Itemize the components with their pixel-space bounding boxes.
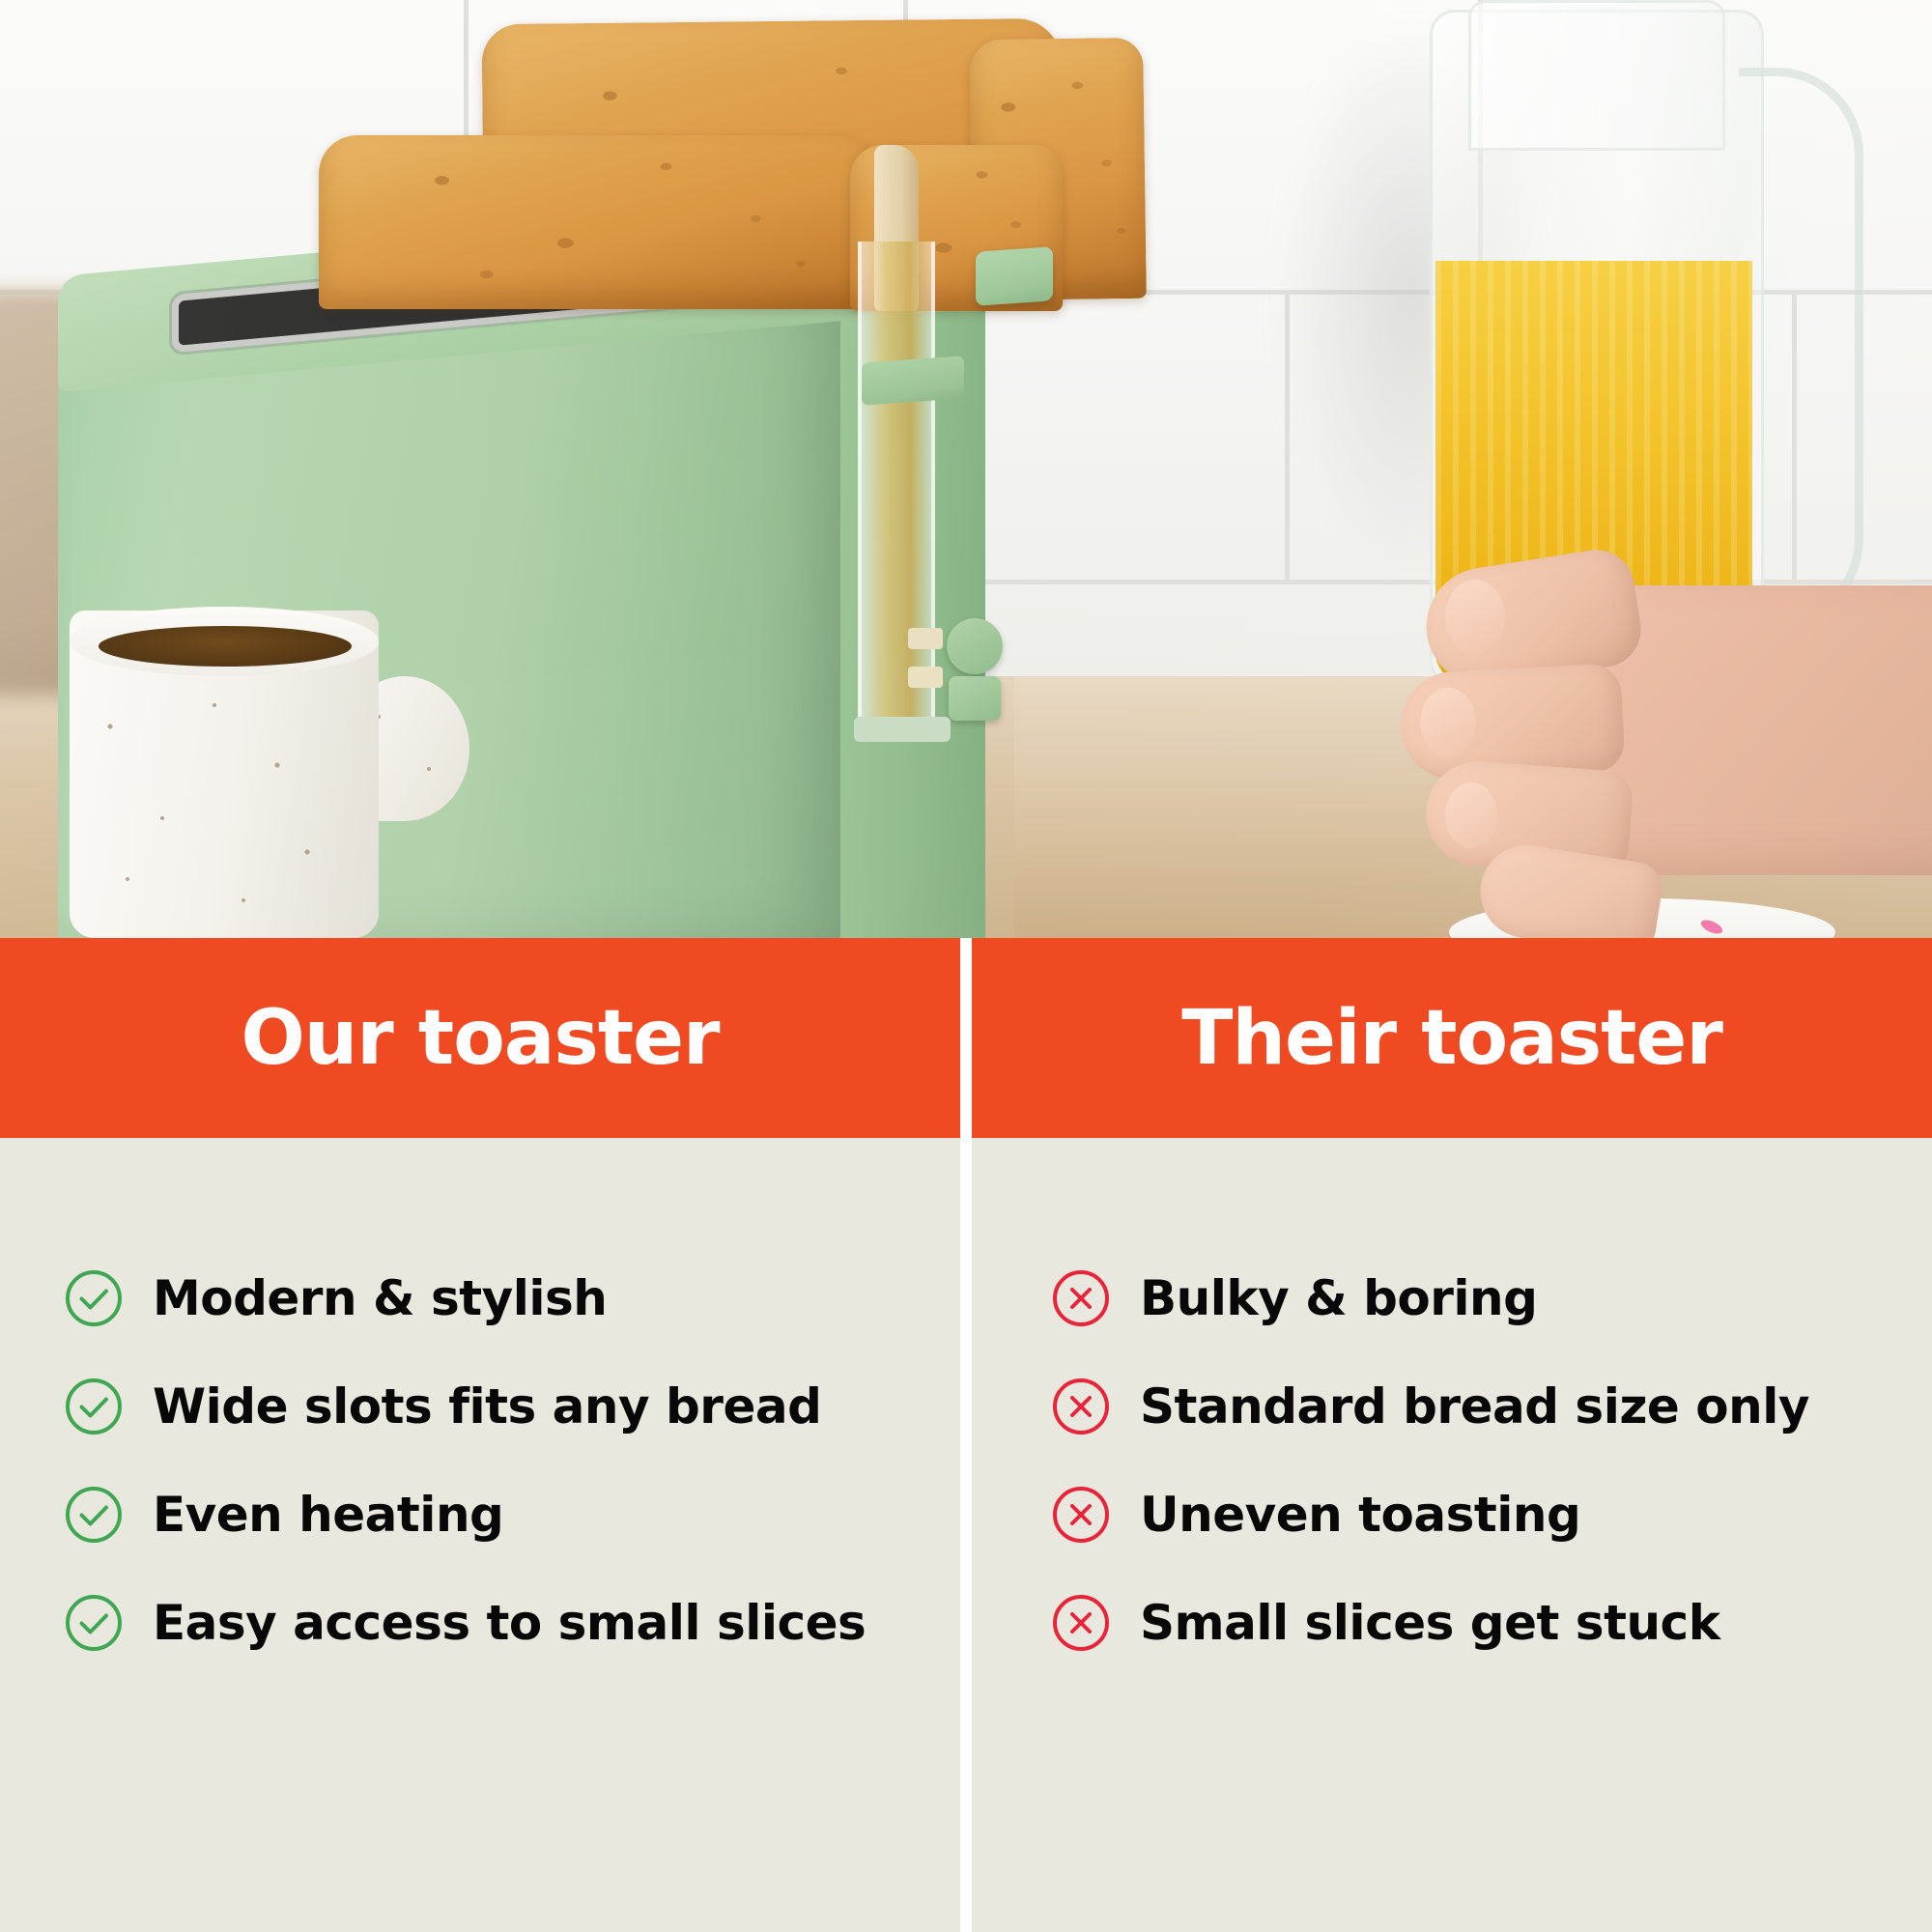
list-item: Small slices get stuck (1051, 1569, 1932, 1677)
list-item: Even heating (64, 1461, 960, 1569)
column-title-ours: Our toaster (241, 1001, 719, 1076)
list-item-label: Standard bread size only (1140, 1382, 1809, 1431)
comparison-infographic: Our toaster Their toaster Modern & styli… (0, 0, 1932, 1932)
column-title-theirs: Their toaster (1181, 1001, 1722, 1076)
header-cell-ours: Our toaster (0, 938, 960, 1138)
list-item-label: Wide slots fits any bread (153, 1382, 821, 1431)
list-item-label: Modern & stylish (153, 1274, 607, 1322)
feature-list-theirs: Bulky & boring Standard bread size only … (972, 1138, 1932, 1932)
cross-circle-icon (1051, 1485, 1111, 1545)
cross-circle-icon (1051, 1593, 1111, 1653)
header-cell-theirs: Their toaster (972, 938, 1932, 1138)
photo-soft-overlay (0, 0, 1932, 938)
list-item: Bulky & boring (1051, 1244, 1932, 1352)
cross-circle-icon (1051, 1377, 1111, 1436)
hero-photo (0, 0, 1932, 938)
list-item: Standard bread size only (1051, 1352, 1932, 1461)
check-circle-icon (64, 1377, 124, 1436)
list-item: Wide slots fits any bread (64, 1352, 960, 1461)
check-circle-icon (64, 1593, 124, 1653)
list-item-label: Easy access to small slices (153, 1599, 866, 1647)
list-item: Easy access to small slices (64, 1569, 960, 1677)
list-item: Uneven toasting (1051, 1461, 1932, 1569)
check-circle-icon (64, 1268, 124, 1328)
list-item-label: Small slices get stuck (1140, 1599, 1719, 1647)
check-circle-icon (64, 1485, 124, 1545)
list-item-label: Even heating (153, 1491, 503, 1539)
list-item-label: Uneven toasting (1140, 1491, 1580, 1539)
list-item: Modern & stylish (64, 1244, 960, 1352)
column-divider (960, 938, 972, 1932)
list-item-label: Bulky & boring (1140, 1274, 1537, 1322)
cross-circle-icon (1051, 1268, 1111, 1328)
feature-list-ours: Modern & stylish Wide slots fits any bre… (0, 1138, 960, 1932)
